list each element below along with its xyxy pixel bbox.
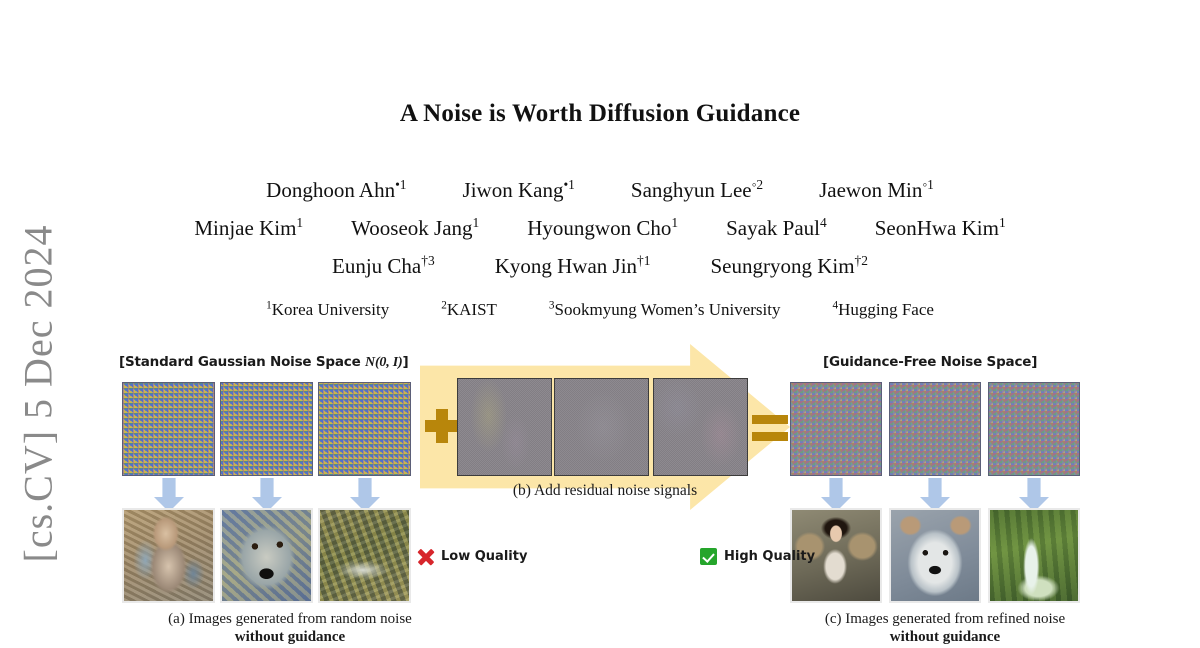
flow-down-arrow <box>154 478 184 512</box>
high-quality-label: High Quality <box>724 549 815 564</box>
label-suffix: ] <box>403 354 409 370</box>
caption-c-line1: (c) Images generated from refined noise <box>745 610 1145 628</box>
flow-down-arrow <box>350 478 380 512</box>
caption-a-line1: (a) Images generated from random noise <box>95 610 485 628</box>
caption-a: (a) Images generated from random noise w… <box>95 610 485 647</box>
residual-noise-tile <box>554 378 649 476</box>
high-quality-image <box>988 508 1080 603</box>
high-quality-badge: High Quality <box>700 548 815 565</box>
low-quality-badge: Low Quality <box>417 548 527 565</box>
guidance-free-noise-tile <box>988 382 1080 476</box>
flow-down-arrow <box>1019 478 1049 512</box>
residual-noise-tile <box>457 378 552 476</box>
teaser-figure: [Standard Gaussian Noise Space N(0, I)] … <box>0 0 1200 648</box>
flow-down-arrow <box>252 478 282 512</box>
low-quality-image <box>220 508 313 603</box>
gaussian-noise-tile <box>220 382 313 476</box>
gaussian-noise-tile <box>122 382 215 476</box>
label-prefix: [Standard Gaussian Noise Space <box>119 354 365 370</box>
residual-noise-tile <box>653 378 748 476</box>
caption-c: (c) Images generated from refined noise … <box>745 610 1145 647</box>
standard-gaussian-noise-space-label: [Standard Gaussian Noise Space N(0, I)] <box>119 354 409 371</box>
gaussian-noise-tile <box>318 382 411 476</box>
equals-icon <box>752 415 788 441</box>
low-quality-label: Low Quality <box>441 549 527 564</box>
guidance-free-noise-tile <box>889 382 981 476</box>
guidance-free-noise-space-label: [Guidance-Free Noise Space] <box>823 354 1037 370</box>
guidance-free-noise-tile <box>790 382 882 476</box>
label-math: N(0, I) <box>365 355 402 370</box>
high-quality-image <box>889 508 981 603</box>
flow-down-arrow <box>821 478 851 512</box>
check-mark-icon <box>700 548 717 565</box>
caption-a-line2: without guidance <box>235 629 345 645</box>
caption-b: (b) Add residual noise signals <box>420 482 790 501</box>
low-quality-image <box>318 508 411 603</box>
caption-c-line2: without guidance <box>890 629 1000 645</box>
cross-mark-icon <box>417 548 434 565</box>
flow-down-arrow <box>920 478 950 512</box>
low-quality-image <box>122 508 215 603</box>
plus-icon <box>425 409 459 443</box>
